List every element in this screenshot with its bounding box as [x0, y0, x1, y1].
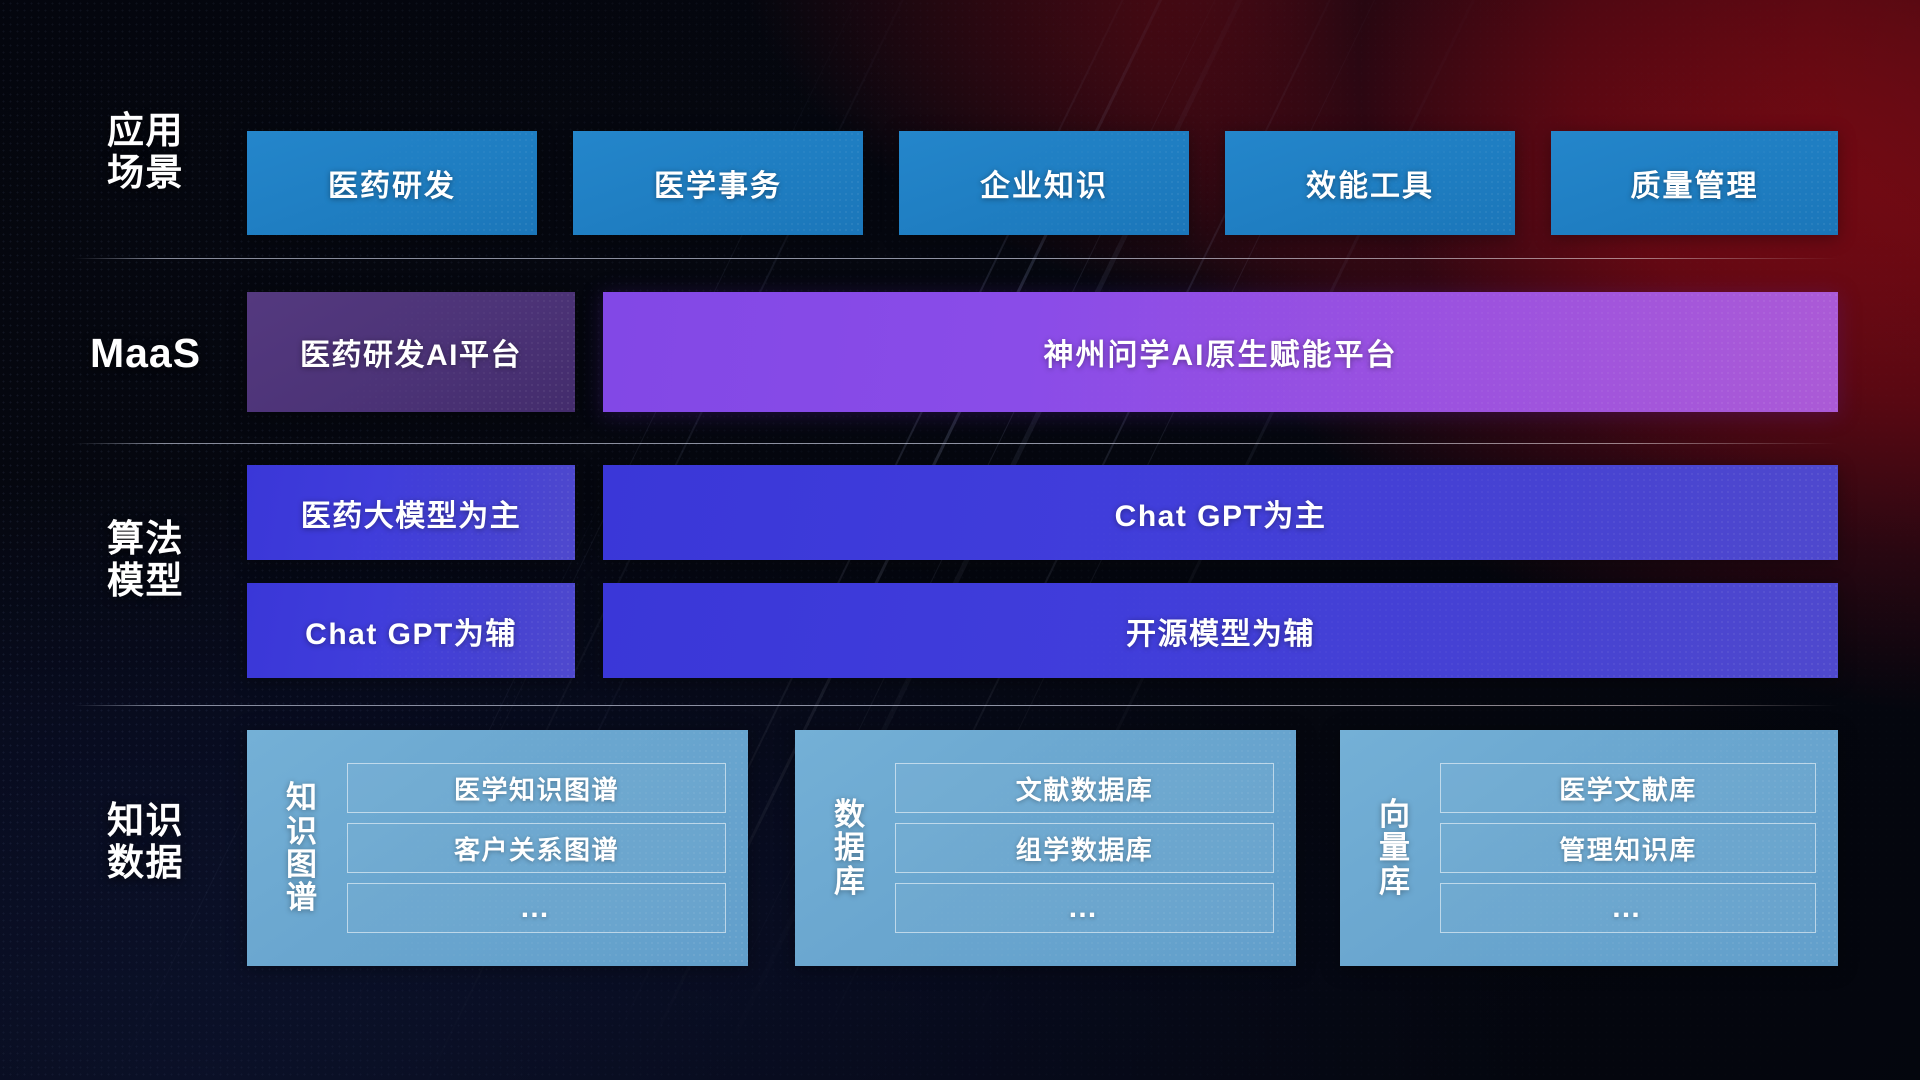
app-scenario-box-5[interactable]: 质量管理 [1551, 131, 1838, 235]
app-scenario-box-3[interactable]: 企业知识 [899, 131, 1189, 235]
maas-box-pharma-ai-platform-label: 医药研发AI平台 [300, 330, 522, 374]
knowledge-group-knowledge-graph[interactable]: 知 识 图 谱 医学知识图谱 客户关系图谱 … [247, 730, 748, 966]
app-scenario-box-3-label: 企业知识 [980, 161, 1108, 205]
app-scenario-box-4-label: 效能工具 [1306, 161, 1434, 205]
algorithm-box-opensource-secondary-label: 开源模型为辅 [1126, 609, 1315, 653]
knowledge-item[interactable]: 医学知识图谱 [347, 763, 726, 813]
knowledge-group-database-label: 数 据 库 [819, 798, 881, 898]
app-scenario-box-1[interactable]: 医药研发 [247, 131, 537, 235]
knowledge-group-vector-store[interactable]: 向 量 库 医学文献库 管理知识库 … [1340, 730, 1838, 966]
app-scenario-box-2[interactable]: 医学事务 [573, 131, 863, 235]
knowledge-group-vector-store-items: 医学文献库 管理知识库 … [1426, 747, 1838, 949]
knowledge-item[interactable]: 医学文献库 [1440, 763, 1816, 813]
algorithm-box-pharma-llm-primary-label: 医药大模型为主 [301, 491, 522, 535]
divider-2 [74, 443, 1838, 444]
knowledge-group-vector-store-label: 向 量 库 [1364, 798, 1426, 898]
maas-box-shenzhou-wenxue-platform-label: 神州问学AI原生赋能平台 [1044, 330, 1398, 374]
row-label-maas: MaaS [58, 330, 233, 377]
algorithm-box-opensource-secondary[interactable]: 开源模型为辅 [603, 583, 1838, 678]
maas-box-pharma-ai-platform[interactable]: 医药研发AI平台 [247, 292, 575, 412]
app-scenario-box-2-label: 医学事务 [654, 161, 782, 205]
knowledge-group-knowledge-graph-label: 知 识 图 谱 [271, 781, 333, 915]
maas-box-shenzhou-wenxue-platform[interactable]: 神州问学AI原生赋能平台 [603, 292, 1838, 412]
knowledge-group-database[interactable]: 数 据 库 文献数据库 组学数据库 … [795, 730, 1296, 966]
algorithm-box-chatgpt-primary[interactable]: Chat GPT为主 [603, 465, 1838, 560]
row-label-application-scenario: 应用 场景 [58, 110, 233, 194]
app-scenario-box-1-label: 医药研发 [328, 161, 456, 205]
divider-1 [74, 258, 1838, 259]
knowledge-item-more[interactable]: … [1440, 883, 1816, 933]
algorithm-box-pharma-llm-primary[interactable]: 医药大模型为主 [247, 465, 575, 560]
row-label-algorithm-model: 算法 模型 [58, 518, 233, 602]
divider-3 [74, 705, 1838, 706]
knowledge-item-more[interactable]: … [895, 883, 1274, 933]
knowledge-item[interactable]: 客户关系图谱 [347, 823, 726, 873]
algorithm-box-chatgpt-secondary[interactable]: Chat GPT为辅 [247, 583, 575, 678]
app-scenario-box-5-label: 质量管理 [1631, 161, 1759, 205]
knowledge-item[interactable]: 文献数据库 [895, 763, 1274, 813]
algorithm-box-chatgpt-primary-label: Chat GPT为主 [1115, 491, 1327, 535]
row-label-knowledge-data: 知识 数据 [58, 800, 233, 884]
knowledge-item-more[interactable]: … [347, 883, 726, 933]
knowledge-group-database-items: 文献数据库 组学数据库 … [881, 747, 1296, 949]
architecture-diagram: 应用 场景 医药研发 医学事务 企业知识 效能工具 质量管理 MaaS 医药研发… [0, 0, 1920, 1080]
app-scenario-box-4[interactable]: 效能工具 [1225, 131, 1515, 235]
knowledge-group-knowledge-graph-items: 医学知识图谱 客户关系图谱 … [333, 747, 748, 949]
algorithm-box-chatgpt-secondary-label: Chat GPT为辅 [305, 609, 517, 653]
knowledge-item[interactable]: 组学数据库 [895, 823, 1274, 873]
knowledge-item[interactable]: 管理知识库 [1440, 823, 1816, 873]
